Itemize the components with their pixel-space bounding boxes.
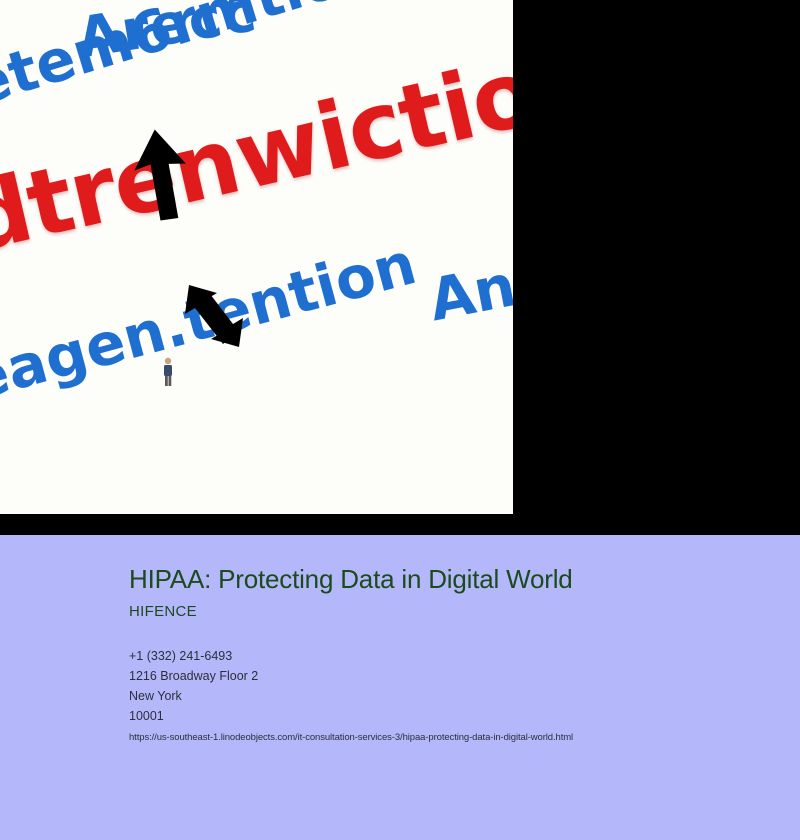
contact-address-street: 1216 Broadway Floor 2 — [129, 666, 800, 686]
garbled-word-an: An — [424, 256, 513, 329]
hero-illustration: Arecc etem6rmtion dtrenwictio eagen.tent… — [0, 0, 513, 514]
contact-address-zip: 10001 — [129, 706, 800, 726]
contact-address-city: New York — [129, 686, 800, 706]
arrow-up-icon — [130, 127, 192, 222]
page-title: HIPAA: Protecting Data in Digital World — [129, 565, 800, 594]
person-figure-icon — [160, 357, 176, 387]
article-info-panel: HIPAA: Protecting Data in Digital World … — [0, 535, 800, 840]
brand-name: HIFENCE — [129, 603, 800, 620]
source-url-link[interactable]: https://us-southeast-1.linodeobjects.com… — [129, 729, 800, 747]
double-arrow-icon — [183, 281, 245, 351]
hero-canvas: Arecc etem6rmtion dtrenwictio eagen.tent… — [0, 0, 513, 514]
contact-phone[interactable]: +1 (332) 241-6493 — [129, 646, 800, 666]
